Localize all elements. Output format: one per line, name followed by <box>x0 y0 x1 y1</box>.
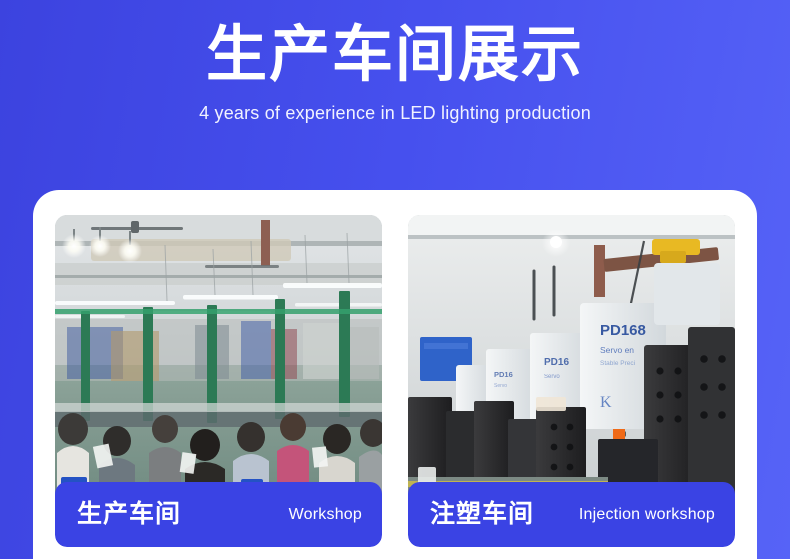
svg-text:PD168: PD168 <box>600 322 646 339</box>
workshop-card[interactable]: 生产车间 Workshop <box>55 215 382 547</box>
svg-text:Servo en: Servo en <box>600 345 634 355</box>
assembly-line-photo <box>55 215 382 506</box>
caption-title-en: Workshop <box>289 507 362 523</box>
svg-text:Servo: Servo <box>544 374 560 380</box>
svg-text:PD16: PD16 <box>494 370 513 379</box>
caption-title-en: Injection workshop <box>579 507 715 523</box>
workshop-card-caption: 生产车间 Workshop <box>55 482 382 547</box>
caption-title-cn: 生产车间 <box>77 502 181 527</box>
svg-text:K: K <box>600 394 612 411</box>
svg-text:Stable Preci: Stable Preci <box>600 360 635 367</box>
page-subtitle: 4 years of experience in LED lighting pr… <box>0 88 790 125</box>
workshop-card[interactable]: PD168 Servo en Stable Preci K PD16 Servo… <box>408 215 735 547</box>
page-title: 生产车间展示 <box>0 0 790 88</box>
content-panel: 生产车间 Workshop <box>33 190 757 559</box>
svg-text:Servo: Servo <box>494 383 507 389</box>
production-workshop-banner: 生产车间展示 4 years of experience in LED ligh… <box>0 0 790 559</box>
workshop-card-caption: 注塑车间 Injection workshop <box>408 482 735 547</box>
caption-title-cn: 注塑车间 <box>430 502 534 527</box>
banner-header: 生产车间展示 4 years of experience in LED ligh… <box>0 0 790 124</box>
workshop-card-list: 生产车间 Workshop <box>55 215 735 547</box>
injection-molding-photo: PD168 Servo en Stable Preci K PD16 Servo… <box>408 215 735 506</box>
svg-text:PD16: PD16 <box>544 357 569 368</box>
